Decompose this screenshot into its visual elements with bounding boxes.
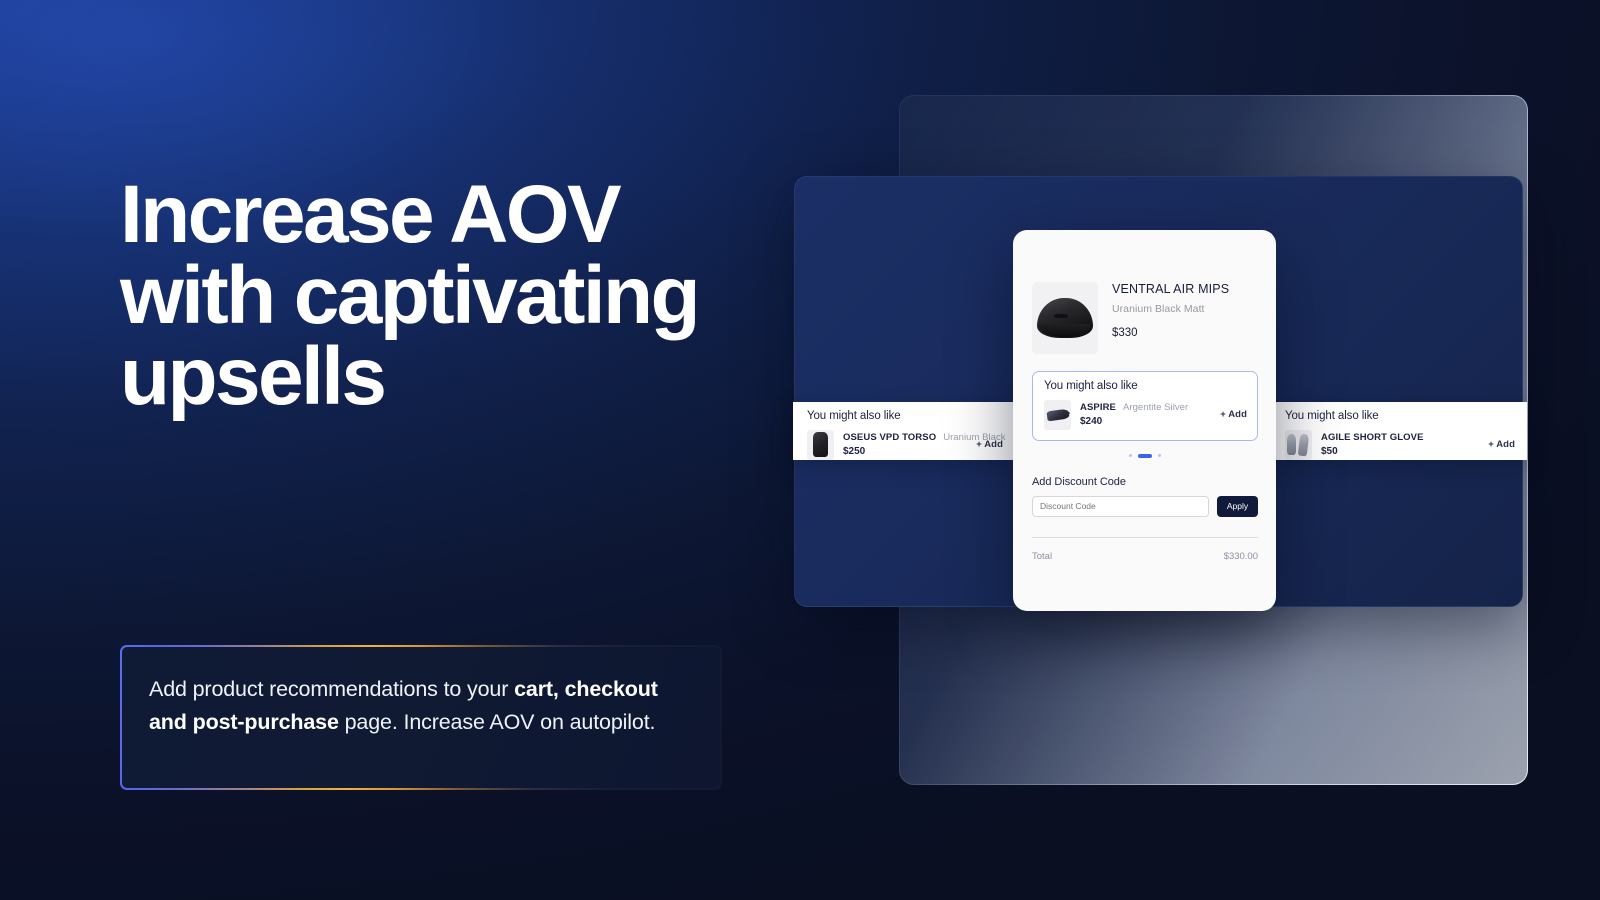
total-label: Total	[1032, 551, 1052, 562]
discount-label: Add Discount Code	[1032, 476, 1258, 488]
pagination-dot-active[interactable]	[1138, 454, 1152, 458]
checkout-card: VENTRAL AIR MIPS Uranium Black Matt $330…	[1013, 230, 1276, 611]
pagination-dot[interactable]	[1158, 454, 1161, 457]
product-variant: Uranium Black Matt	[1112, 303, 1229, 315]
recommendation-price: $240	[1080, 416, 1211, 427]
product-name: VENTRAL AIR MIPS	[1112, 282, 1229, 296]
recommendation-row: ASPIRE Argentite Silver $240 + Add	[1044, 400, 1247, 430]
apply-discount-button[interactable]: Apply	[1217, 496, 1258, 517]
torso-protector-icon	[807, 430, 834, 460]
recommendation-info: OSEUS VPD TORSO Uranium Black $250	[843, 432, 967, 457]
pagination-dot[interactable]	[1129, 454, 1132, 457]
recommendation-name: ASPIRE	[1080, 402, 1116, 413]
recommendation-name: OSEUS VPD TORSO	[843, 432, 936, 443]
total-value: $330.00	[1224, 551, 1258, 562]
recommendation-nameline: AGILE SHORT GLOVE	[1321, 432, 1479, 443]
recommendation-variant: Argentite Silver	[1123, 402, 1188, 413]
recommendation-nameline: ASPIRE Argentite Silver	[1080, 402, 1211, 413]
recommendation-card-left[interactable]: You might also like OSEUS VPD TORSO Uran…	[793, 402, 1015, 460]
recommendation-card-right[interactable]: You might also like AGILE SHORT GLOVE $5…	[1271, 402, 1527, 460]
cart-product: VENTRAL AIR MIPS Uranium Black Matt $330	[1032, 282, 1258, 354]
carousel-pagination[interactable]	[1032, 454, 1258, 458]
order-total-row: Total $330.00	[1032, 551, 1258, 562]
recommendation-price: $250	[843, 446, 967, 457]
add-to-cart-button[interactable]: + Add	[1488, 439, 1515, 450]
recommendation-row: OSEUS VPD TORSO Uranium Black $250 + Add	[807, 430, 1003, 460]
discount-code-input[interactable]	[1032, 496, 1209, 517]
recommendation-title: You might also like	[807, 411, 1003, 423]
discount-row: Apply	[1032, 496, 1258, 517]
recommendation-row: AGILE SHORT GLOVE $50 + Add	[1285, 430, 1515, 460]
product-price: $330	[1112, 327, 1229, 339]
add-to-cart-button[interactable]: + Add	[1220, 409, 1247, 420]
sunglasses-icon	[1044, 400, 1071, 430]
product-details: VENTRAL AIR MIPS Uranium Black Matt $330	[1112, 282, 1229, 339]
recommendation-price: $50	[1321, 446, 1479, 457]
summary-divider	[1032, 537, 1258, 538]
recommendation-card-center[interactable]: You might also like ASPIRE Argentite Sil…	[1032, 371, 1258, 441]
add-to-cart-button[interactable]: + Add	[976, 439, 1003, 450]
recommendation-info: AGILE SHORT GLOVE $50	[1321, 432, 1479, 457]
recommendation-title: You might also like	[1285, 411, 1515, 423]
recommendation-name: AGILE SHORT GLOVE	[1321, 432, 1424, 443]
helmet-icon	[1032, 282, 1098, 354]
mockup-stage: You might also like OSEUS VPD TORSO Uran…	[0, 0, 1600, 900]
recommendation-title: You might also like	[1044, 381, 1247, 393]
recommendation-info: ASPIRE Argentite Silver $240	[1080, 402, 1211, 427]
gloves-icon	[1285, 430, 1312, 460]
recommendation-nameline: OSEUS VPD TORSO Uranium Black	[843, 432, 967, 443]
